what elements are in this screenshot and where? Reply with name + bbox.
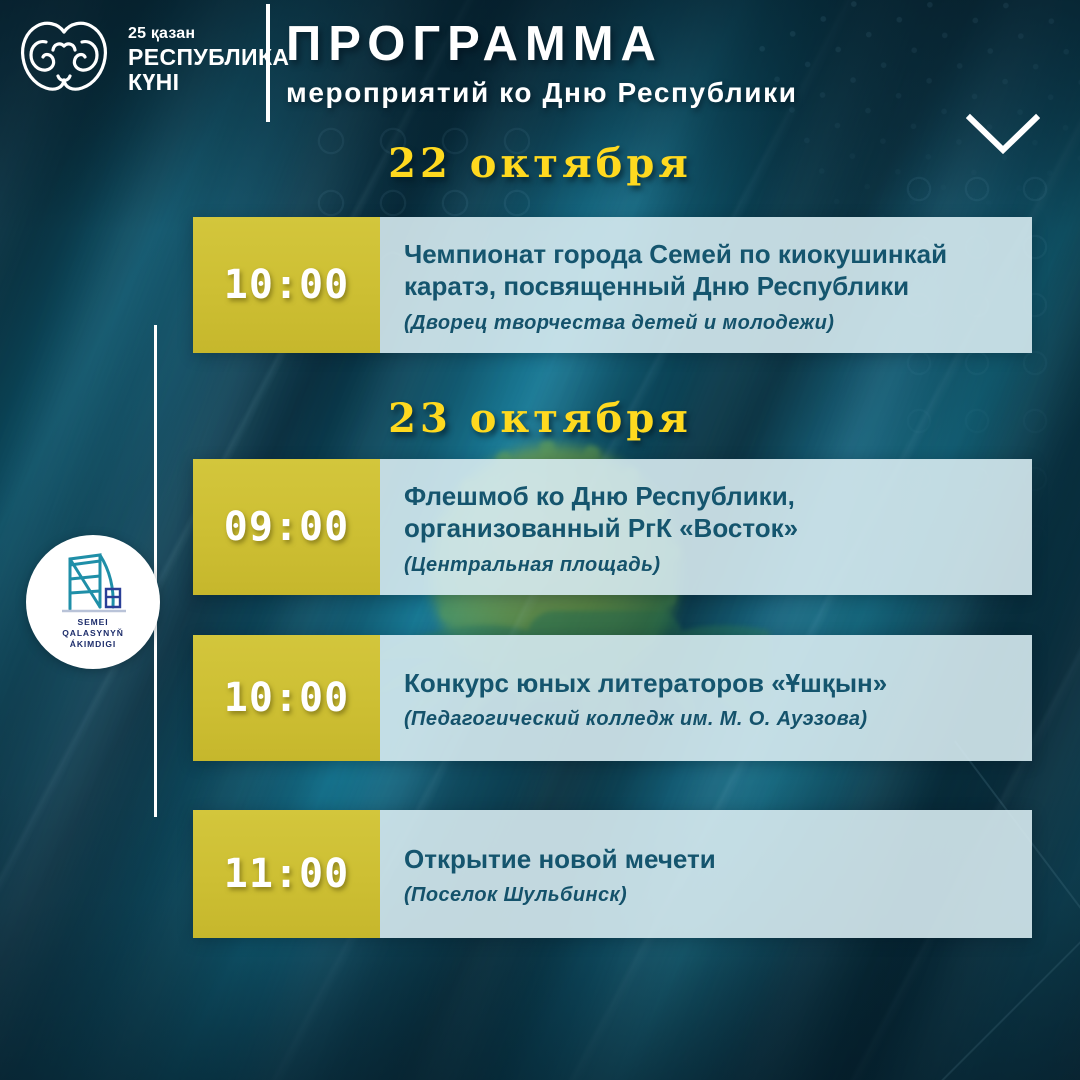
event-body: Открытие новой мечети (Поселок Шульбинск…: [380, 810, 1032, 938]
event-time-block: 10:00: [193, 217, 380, 353]
schedule: 22 октября 10:00 Чемпионат города Семей …: [0, 0, 1080, 1080]
day-header-23-october: 23 октября: [0, 395, 1080, 442]
event-title: Флешмоб ко Дню Республики, организованны…: [404, 480, 1006, 545]
event-card[interactable]: 11:00 Открытие новой мечети (Поселок Шул…: [193, 810, 1032, 938]
event-title: Открытие новой мечети: [404, 843, 1006, 876]
event-time: 10:00: [224, 675, 349, 721]
event-time-block: 10:00: [193, 635, 380, 761]
event-title: Чемпионат города Семей по киокушинкай ка…: [404, 238, 1006, 303]
event-body: Чемпионат города Семей по киокушинкай ка…: [380, 217, 1032, 353]
event-time: 09:00: [224, 504, 349, 550]
event-place: (Дворец творчества детей и молодежи): [404, 312, 1006, 335]
bridge-tower-icon: [56, 549, 130, 615]
day-header-22-october: 22 октября: [0, 140, 1080, 187]
event-place: (Поселок Шульбинск): [404, 884, 1006, 907]
event-card[interactable]: 10:00 Конкурс юных литераторов «Ұшқын» (…: [193, 635, 1032, 761]
event-body: Конкурс юных литераторов «Ұшқын» (Педаго…: [380, 635, 1032, 761]
event-body: Флешмоб ко Дню Республики, организованны…: [380, 459, 1032, 595]
city-akimat-seal: SEMEI QALASYNYŇ ÁKIMDIGI: [26, 535, 160, 669]
event-place: (Педагогический колледж им. М. О. Ауэзов…: [404, 708, 1006, 731]
event-card[interactable]: 10:00 Чемпионат города Семей по киокушин…: [193, 217, 1032, 353]
event-time: 11:00: [224, 851, 349, 897]
seal-line-1: SEMEI: [62, 617, 123, 628]
event-time: 10:00: [224, 262, 349, 308]
event-time-block: 11:00: [193, 810, 380, 938]
poster-canvas: 25 қазан РЕСПУБЛИКА КҮНІ ПРОГРАММА мероп…: [0, 0, 1080, 1080]
event-place: (Центральная площадь): [404, 554, 1006, 577]
event-title: Конкурс юных литераторов «Ұшқын»: [404, 667, 1006, 700]
seal-line-2: QALASYNYŇ: [62, 628, 123, 639]
event-time-block: 09:00: [193, 459, 380, 595]
seal-text: SEMEI QALASYNYŇ ÁKIMDIGI: [62, 617, 123, 651]
seal-line-3: ÁKIMDIGI: [62, 639, 123, 650]
event-card[interactable]: 09:00 Флешмоб ко Дню Республики, организ…: [193, 459, 1032, 595]
